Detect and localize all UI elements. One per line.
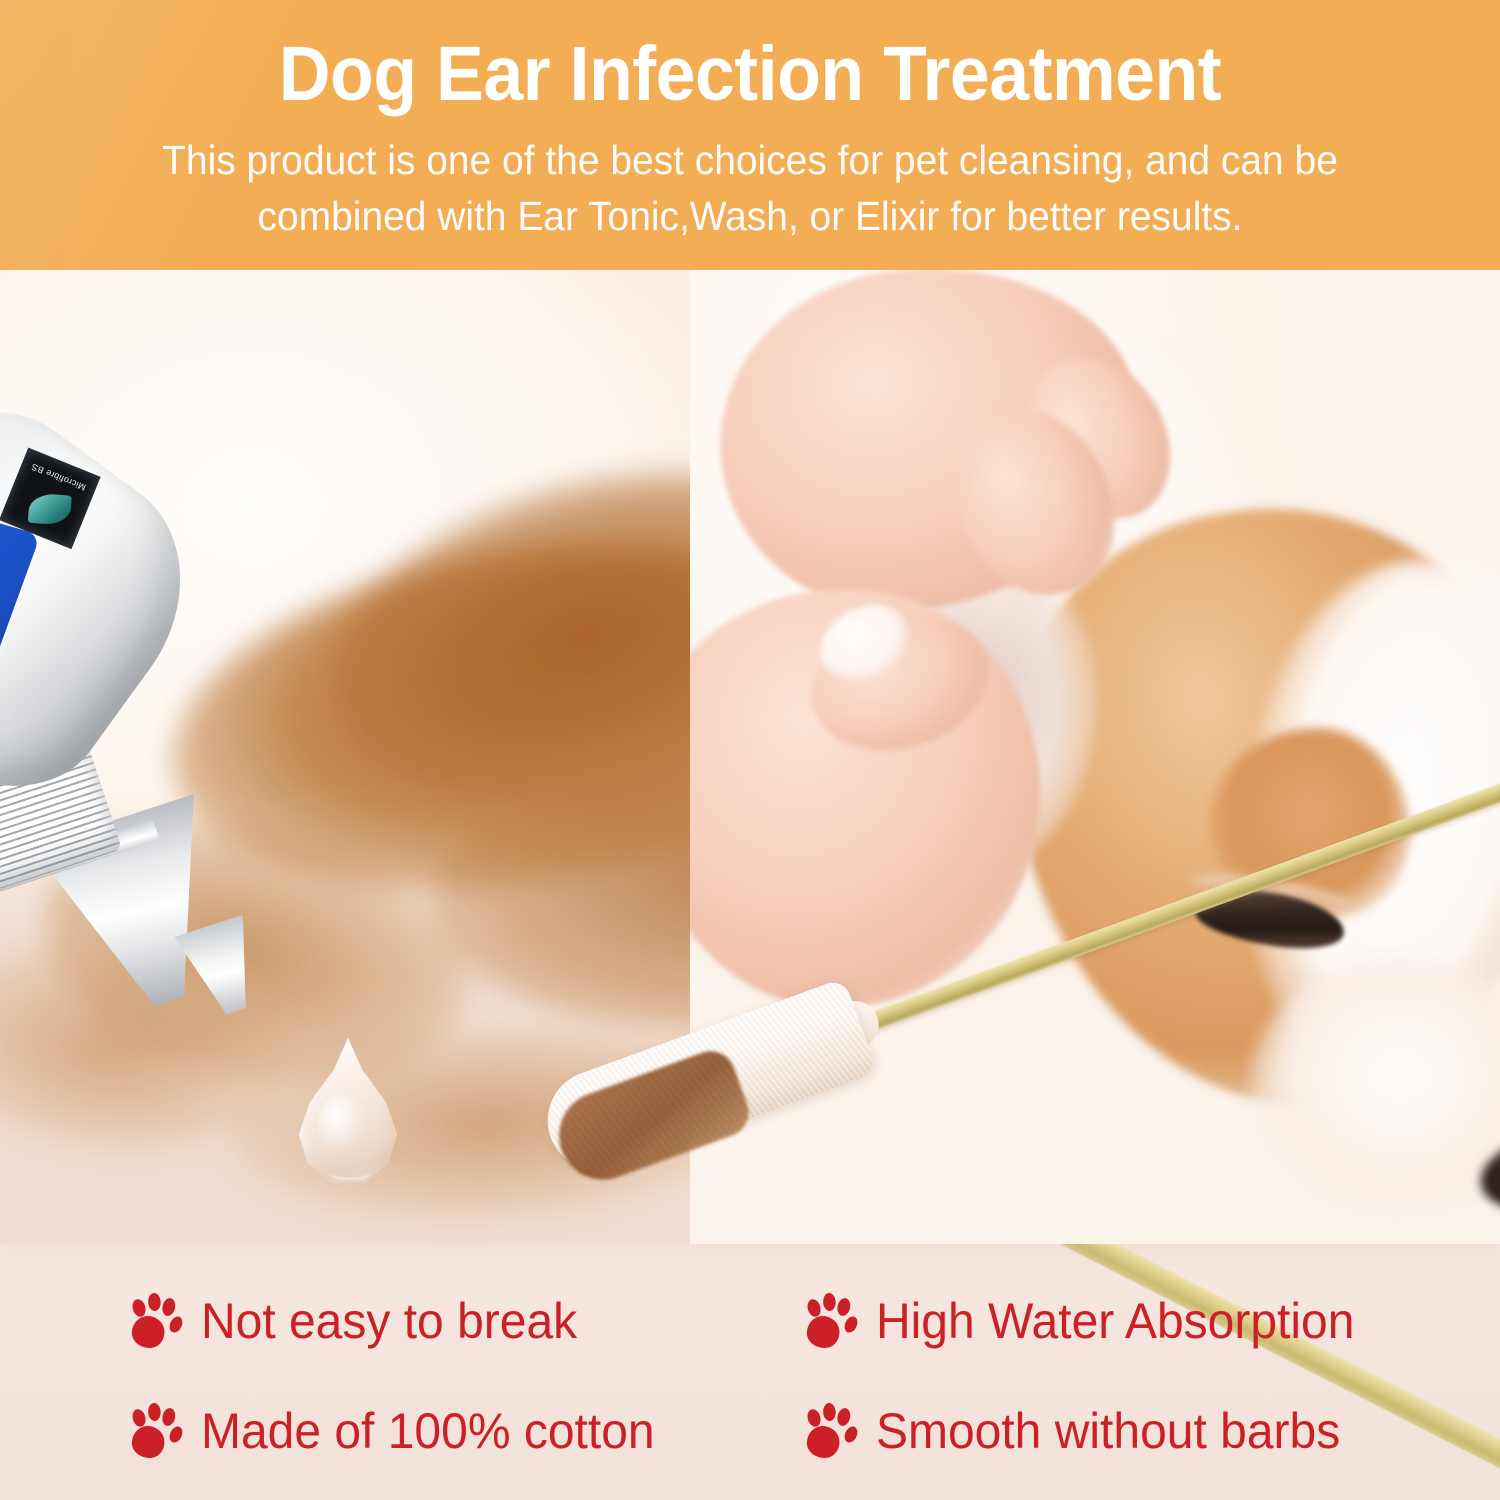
droplet-specular-highlight [318,1096,364,1150]
dog-muzzle [1250,958,1500,1218]
feature-label: Not easy to break [201,1293,577,1349]
dog-ear-flap [813,528,1126,898]
product-photo-stage: Microfibre BS [0,268,1500,1248]
page-title: Dog Ear Infection Treatment [53,32,1448,116]
feature-label: Made of 100% cotton [201,1403,655,1459]
dog-eyelid [1189,867,1356,918]
page-subtitle: This product is one of the best choices … [85,132,1415,244]
bottle-cap-ring-back [0,717,53,809]
feature-item-made-of-cotton: Made of 100% cotton [128,1402,655,1460]
ear-cleaner-dropper-bottle: Microfibre BS [0,365,481,1162]
ear-wax-stain-bottom [225,1015,754,1232]
swab-cotton-head [534,978,878,1185]
dog-eye [1192,882,1348,957]
background-light-wash [0,268,820,968]
ear-wax-liquid-pool [148,500,891,935]
swab-wax-texture [547,1044,756,1192]
swab-wooden-stick [830,768,1500,1045]
bottle-ribbed-cap [0,708,122,903]
cotton-swab-upper [528,780,1401,1248]
swab-ear-wax-stain [547,1044,756,1192]
droplet-body [292,1038,404,1184]
paw-print-icon [803,1402,855,1460]
feature-label: Smooth without barbs [876,1403,1340,1459]
dog-body-fur [700,288,1260,848]
hand-lower-finger [796,596,1005,771]
swab-cotton-texture [534,978,878,1185]
dog-inner-ear-skin [860,598,1060,798]
hand-holding-ear [703,268,1156,629]
product-marketing-image: Microfibre BS [0,0,1500,1500]
leaf-icon [28,493,72,526]
bottle-cap-ring-front [0,819,159,893]
header-banner: Dog Ear Infection Treatment This product… [0,0,1500,270]
hand-index-finger [1001,332,1199,544]
ear-wax-liquid-pool-mid [421,716,1080,1050]
bottle-body: Microfibre BS [0,365,230,834]
dog-ear-cleaning-photo [690,268,1500,1248]
feature-item-high-water-absorption: High Water Absorption [803,1292,1354,1350]
hand-holding-swab [690,562,1067,1034]
paw-print-icon [128,1402,180,1460]
hand-thumb [930,387,1140,619]
swab-cotton-neck [794,994,886,1066]
feature-item-smooth-without-barbs: Smooth without barbs [803,1402,1340,1460]
paw-print-icon [128,1292,180,1350]
dog-head-tan-fur [981,475,1500,1142]
page-subtitle-line-1: This product is one of the best choices … [85,132,1415,188]
ear-wax-stain-corner [0,930,299,1167]
dog-tan-patch [1210,728,1410,918]
ear-wax-stain-lower-left [19,786,492,1120]
liquid-droplet [292,1038,404,1184]
droplet-rim-highlight [300,1048,400,1180]
bottle-nozzle-cone [24,791,263,1030]
bottle-neck [0,662,56,765]
feature-list-band: Not easy to break Made of 100% cotton [0,1244,1500,1500]
bottle-material-mark: Microfibre BS [0,448,101,550]
ear-wax-liquid-pool-dark [302,422,899,844]
bottle-blue-label [0,487,41,733]
bottle-highlight [0,410,58,687]
feature-grid: Not easy to break Made of 100% cotton [0,1244,1500,1500]
dog-white-blaze [1215,540,1500,1097]
page-subtitle-line-2: combined with Ear Tonic,Wash, or Elixir … [85,188,1415,244]
feature-label: High Water Absorption [876,1293,1354,1349]
bottle-nozzle-tip [174,915,270,1023]
paw-print-icon [803,1292,855,1350]
feature-item-not-easy-to-break: Not easy to break [128,1292,577,1350]
fingernail [808,592,920,692]
dog-nose [1474,1126,1500,1219]
photo-backdrop [690,268,1500,1248]
bottle-mark-text: Microfibre BS [28,460,90,493]
dog-ear-canal [889,636,997,720]
